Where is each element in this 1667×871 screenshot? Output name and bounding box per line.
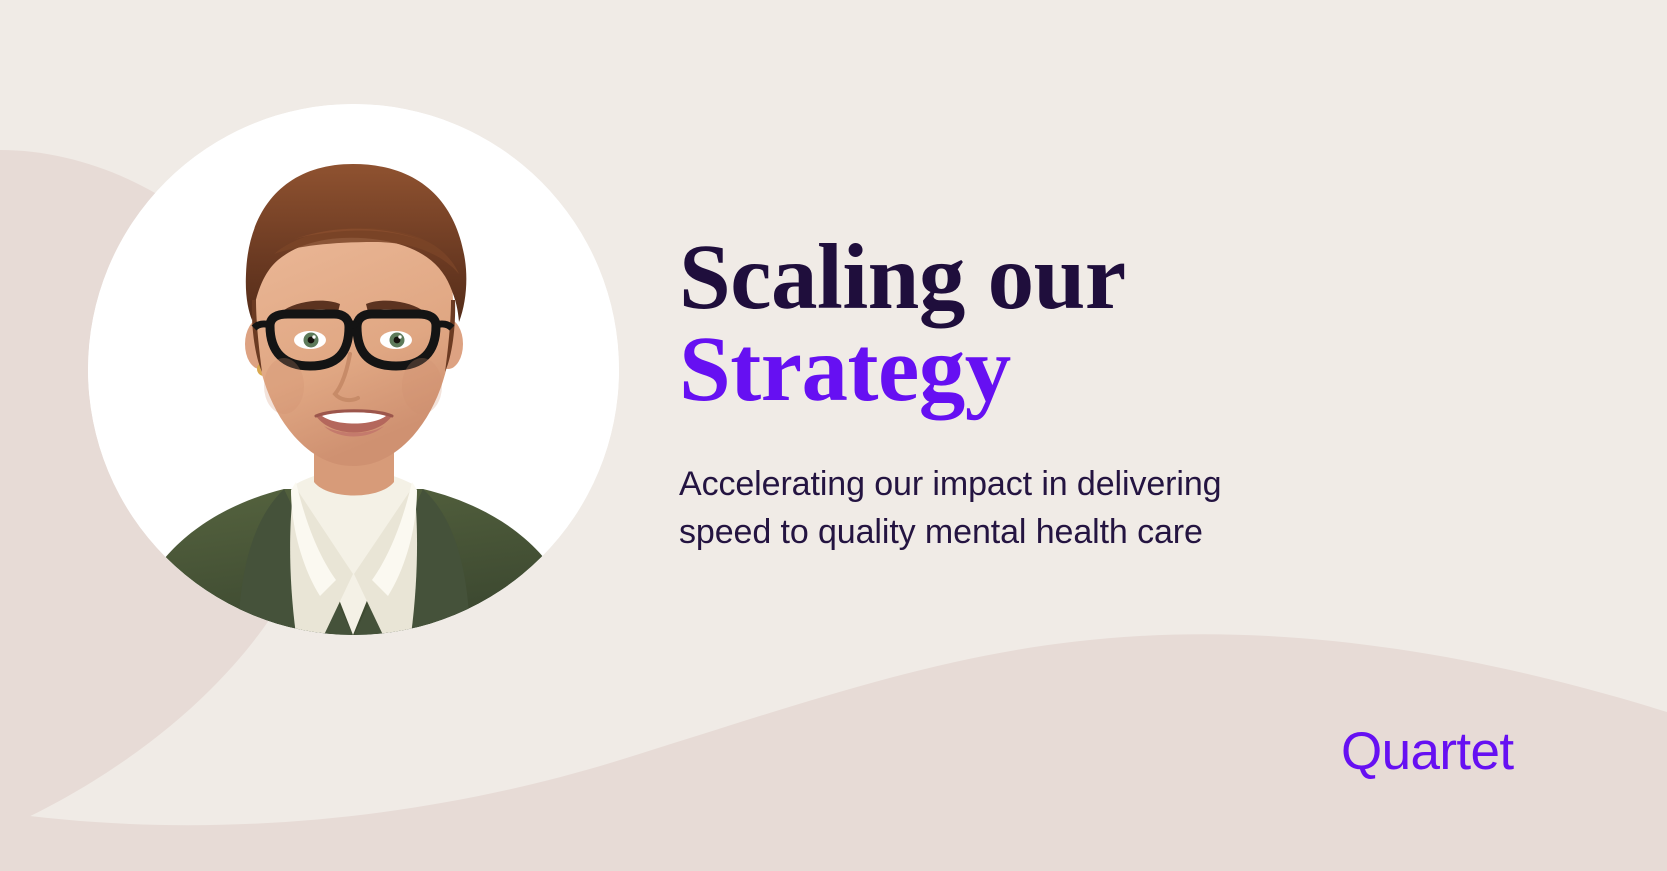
- hero-copy: Scaling our Strategy Accelerating our im…: [679, 232, 1379, 557]
- headline-line-1: Scaling our: [679, 232, 1379, 324]
- hero-banner: Scaling our Strategy Accelerating our im…: [0, 0, 1667, 871]
- headline-line-2: Strategy: [679, 324, 1379, 416]
- subtitle-line-1: Accelerating our impact in delivering: [679, 460, 1379, 508]
- portrait-illustration: [88, 104, 619, 635]
- page-title: Scaling our Strategy: [679, 232, 1379, 416]
- portrait-circle: [88, 104, 619, 635]
- page-subtitle: Accelerating our impact in delivering sp…: [679, 460, 1379, 557]
- quartet-logo: Quartet: [1341, 725, 1514, 778]
- subtitle-line-2: speed to quality mental health care: [679, 508, 1379, 556]
